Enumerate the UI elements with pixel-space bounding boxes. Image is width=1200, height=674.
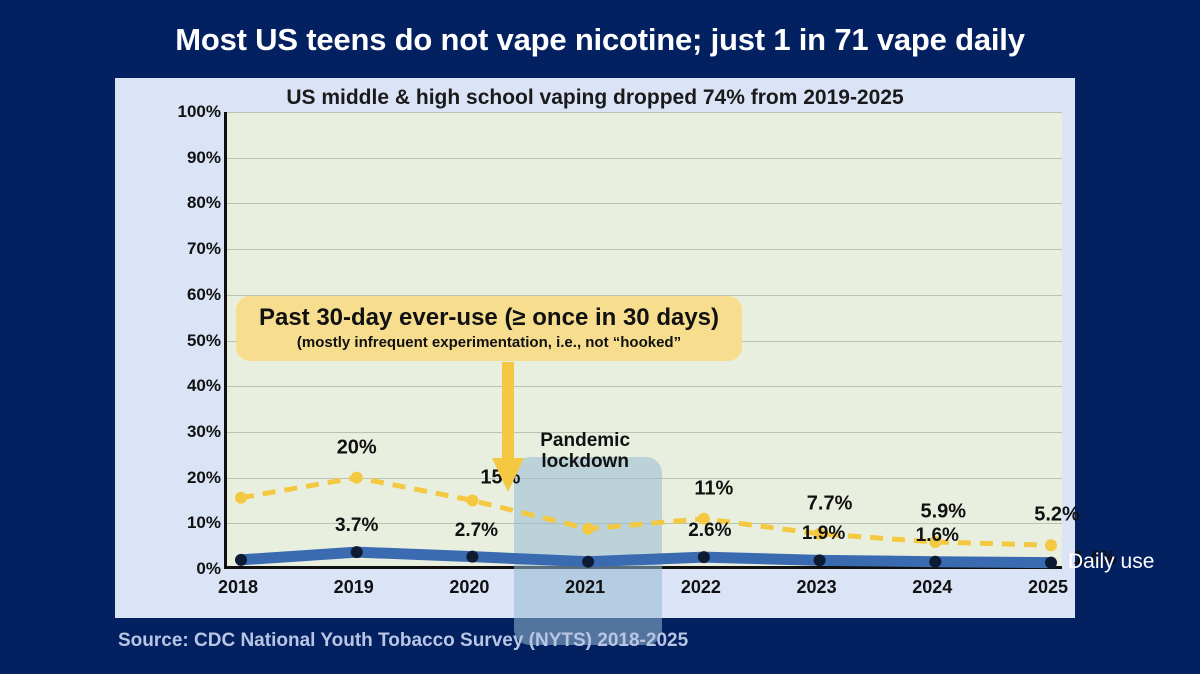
y-axis-tick-label: 40% [133,376,221,396]
y-axis-tick-label: 10% [133,513,221,533]
ever-use-marker [235,492,247,504]
daily-use-marker [351,546,363,558]
ever-use-data-label: 5.2% [1034,504,1080,527]
daily-use-marker [929,556,941,568]
callout-title: Past 30-day ever-use (≥ once in 30 days) [250,304,728,332]
y-axis-labels: 0%10%20%30%40%50%60%70%80%90%100% [125,112,221,569]
daily-use-data-label: 1.6% [916,525,959,547]
callout-subtitle: (mostly infrequent experimentation, i.e.… [250,334,728,351]
y-axis-tick-label: 70% [133,239,221,259]
pandemic-lockdown-label: Pandemic lockdown [505,430,665,473]
chart-subtitle: US middle & high school vaping dropped 7… [115,86,1075,110]
daily-use-marker [698,551,710,563]
ever-use-marker [1045,539,1057,551]
ever-use-marker [351,472,363,484]
x-axis-tick-label: 2018 [218,577,258,598]
daily-use-marker [235,554,247,566]
chart-card: US middle & high school vaping dropped 7… [115,78,1075,618]
y-axis-tick-label: 60% [133,285,221,305]
y-axis-tick-label: 0% [133,559,221,579]
y-axis-tick-label: 30% [133,422,221,442]
page-title: Most US teens do not vape nicotine; just… [0,22,1200,58]
x-axis-tick-label: 2023 [797,577,837,598]
y-axis-tick-label: 100% [133,102,221,122]
ever-use-data-label: 11% [694,477,733,500]
daily-use-data-label: 2.6% [688,520,731,542]
daily-use-data-label: 2.7% [455,520,498,542]
ever-use-marker [582,523,594,535]
ever-use-data-label: 7.7% [807,492,853,515]
callout-box: Past 30-day ever-use (≥ once in 30 days)… [236,296,742,361]
daily-use-marker [1045,557,1057,569]
y-axis-tick-label: 20% [133,468,221,488]
x-axis-tick-label: 2022 [681,577,721,598]
ever-use-marker [466,494,478,506]
ever-use-data-label: 5.9% [920,501,966,524]
callout-arrow-icon [490,362,526,494]
x-axis-tick-label: 2024 [912,577,952,598]
x-axis-tick-label: 2025 [1028,577,1068,598]
daily-use-data-label: 1.9% [802,523,845,545]
ever-use-data-label: 20% [337,436,377,459]
y-axis-tick-label: 50% [133,331,221,351]
x-axis-tick-label: 2021 [565,577,605,598]
y-axis-tick-label: 80% [133,193,221,213]
source-note: Source: CDC National Youth Tobacco Surve… [118,630,688,652]
daily-use-legend-label: Daily use [1068,550,1154,574]
x-axis-tick-label: 2019 [334,577,374,598]
daily-use-marker [582,556,594,568]
x-axis-tick-label: 2020 [449,577,489,598]
daily-use-marker [466,551,478,563]
y-axis-tick-label: 90% [133,148,221,168]
daily-use-data-label: 3.7% [335,515,378,537]
daily-use-marker [814,554,826,566]
